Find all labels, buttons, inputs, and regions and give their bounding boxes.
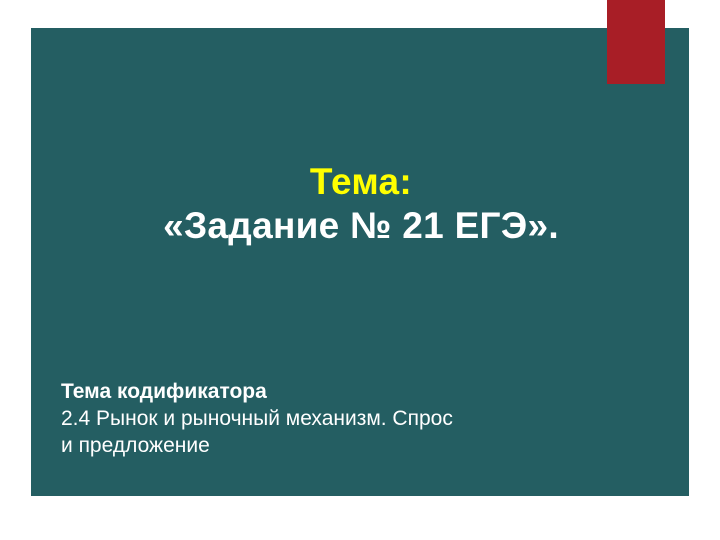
title-line-primary: Тема:	[61, 160, 661, 204]
body-line-2: и предложение	[61, 432, 641, 459]
slide-title: Тема: «Задание № 21 ЕГЭ».	[61, 160, 661, 248]
slide-canvas: Тема: «Задание № 21 ЕГЭ». Тема кодификат…	[0, 0, 720, 540]
body-line-1: 2.4 Рынок и рыночный механизм. Спрос	[61, 405, 641, 432]
title-line-secondary: «Задание № 21 ЕГЭ».	[61, 204, 661, 248]
accent-bar-decoration	[607, 0, 665, 84]
body-heading: Тема кодификатора	[61, 378, 641, 405]
slide-body-text: Тема кодификатора 2.4 Рынок и рыночный м…	[61, 378, 641, 459]
